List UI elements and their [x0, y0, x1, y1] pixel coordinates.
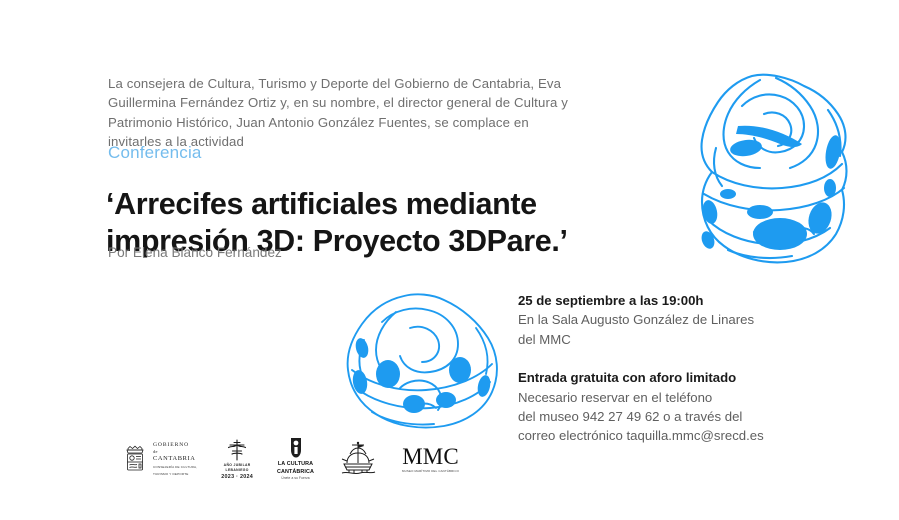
reef-module-top-illustration — [668, 44, 864, 280]
jubilar-line-3: 2023 · 2024 — [221, 474, 253, 480]
jubilar-line-2: LEBANIEGO — [226, 468, 249, 472]
reef-module-middle-illustration — [338, 284, 504, 438]
logo-ano-jubilar-lebaniego: AÑO JUBILAR LEBANIEGO 2023 · 2024 — [221, 438, 253, 480]
event-venue-line-1: En la Sala Augusto González de Linares — [518, 310, 818, 329]
intro-paragraph: La consejera de Cultura, Turismo y Depor… — [108, 74, 578, 151]
event-venue-line-2: del MMC — [518, 330, 818, 349]
mmc-wordmark: MMC — [402, 445, 459, 469]
logo-gobierno-cantabria: GOBIERNO de CANTABRIA CONSEJERÍA DE CULT… — [122, 442, 197, 477]
kicker-label: Conferencia — [108, 143, 202, 163]
lebaniego-cross-icon — [223, 438, 251, 462]
gobierno-line-3: CANTABRIA — [153, 455, 197, 463]
booking-line-2: del museo 942 27 49 62 o a través del — [518, 407, 818, 426]
cultura-line-2: CANTÁBRICA — [277, 469, 314, 475]
event-datetime: 25 de septiembre a las 19:00h — [518, 291, 818, 310]
sailing-ship-icon — [338, 441, 378, 477]
logo-strip: GOBIERNO de CANTABRIA CONSEJERÍA DE CULT… — [122, 437, 459, 481]
title-line-1: ‘Arrecifes artificiales mediante — [106, 186, 666, 223]
logo-sailing-ship — [338, 441, 378, 477]
mmc-subtitle: MUSEO MARÍTIMO DEL CANTÁBRICO — [402, 469, 459, 473]
gobierno-line-1: GOBIERNO — [153, 442, 197, 449]
gobierno-sub-1: CONSEJERÍA DE CULTURA, — [153, 465, 197, 469]
booking-line-3: correo electrónico taquilla.mmc@srecd.es — [518, 426, 818, 445]
event-details: 25 de septiembre a las 19:00h En la Sala… — [518, 291, 818, 446]
cultura-line-1: LA CULTURA — [278, 461, 313, 467]
stela-icon — [285, 437, 307, 459]
coat-of-arms-icon — [122, 444, 148, 474]
cultura-line-3: Únete a su Fuerza — [281, 476, 309, 480]
booking-line-1: Necesario reservar en el teléfono — [518, 388, 818, 407]
logo-la-cultura-cantabrica: LA CULTURA CANTÁBRICA Únete a su Fuerza — [277, 437, 314, 480]
logo-mmc: MMC MUSEO MARÍTIMO DEL CANTÁBRICO — [402, 445, 459, 474]
poster-canvas: La consejera de Cultura, Turismo y Depor… — [0, 0, 899, 520]
gobierno-sub-2: TURISMO Y DEPORTE — [153, 472, 197, 476]
admission-notice: Entrada gratuita con aforo limitado — [518, 368, 818, 387]
speaker-byline: Por Elena Blanco Fernández — [108, 244, 282, 262]
jubilar-line-1: AÑO JUBILAR — [224, 463, 251, 467]
